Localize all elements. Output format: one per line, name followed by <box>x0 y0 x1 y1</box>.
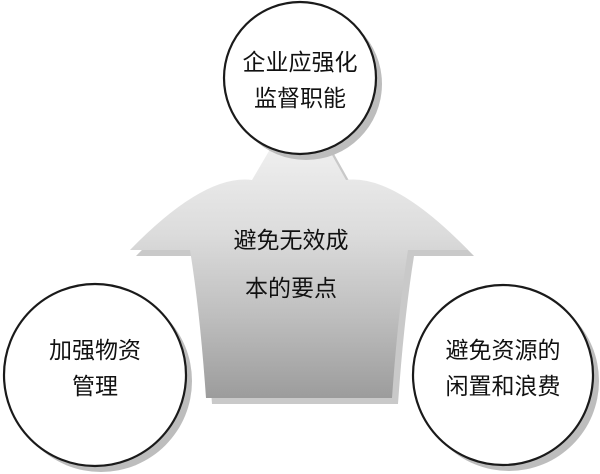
diagram-canvas: 避免无效成 本的要点 企业应强化 监督职能 加强物资 管理 避免资源的 闲置和浪… <box>0 0 600 474</box>
center-core-line-2: 本的要点 <box>245 276 337 302</box>
circle-node-top[interactable]: 企业应强化 监督职能 <box>224 2 382 160</box>
circle-node-top-line-1: 企业应强化 <box>243 50 358 76</box>
circle-node-bottom-right-line-1: 避免资源的 <box>446 338 561 364</box>
circle-node-bottom-left[interactable]: 加强物资 管理 <box>4 284 192 472</box>
center-core-line-1: 避免无效成 <box>234 228 349 254</box>
circle-node-top-line-2: 监督职能 <box>254 86 346 112</box>
circle-node-bottom-right-line-2: 闲置和浪费 <box>446 374 561 400</box>
circle-node-bottom-left-line-1: 加强物资 <box>49 338 141 364</box>
circle-node-bottom-right[interactable]: 避免资源的 闲置和浪费 <box>413 285 599 471</box>
circle-node-top-shape[interactable] <box>224 2 376 154</box>
relationship-diagram: 避免无效成 本的要点 企业应强化 监督职能 加强物资 管理 避免资源的 闲置和浪… <box>0 0 600 474</box>
circle-node-bottom-left-line-2: 管理 <box>72 374 118 400</box>
